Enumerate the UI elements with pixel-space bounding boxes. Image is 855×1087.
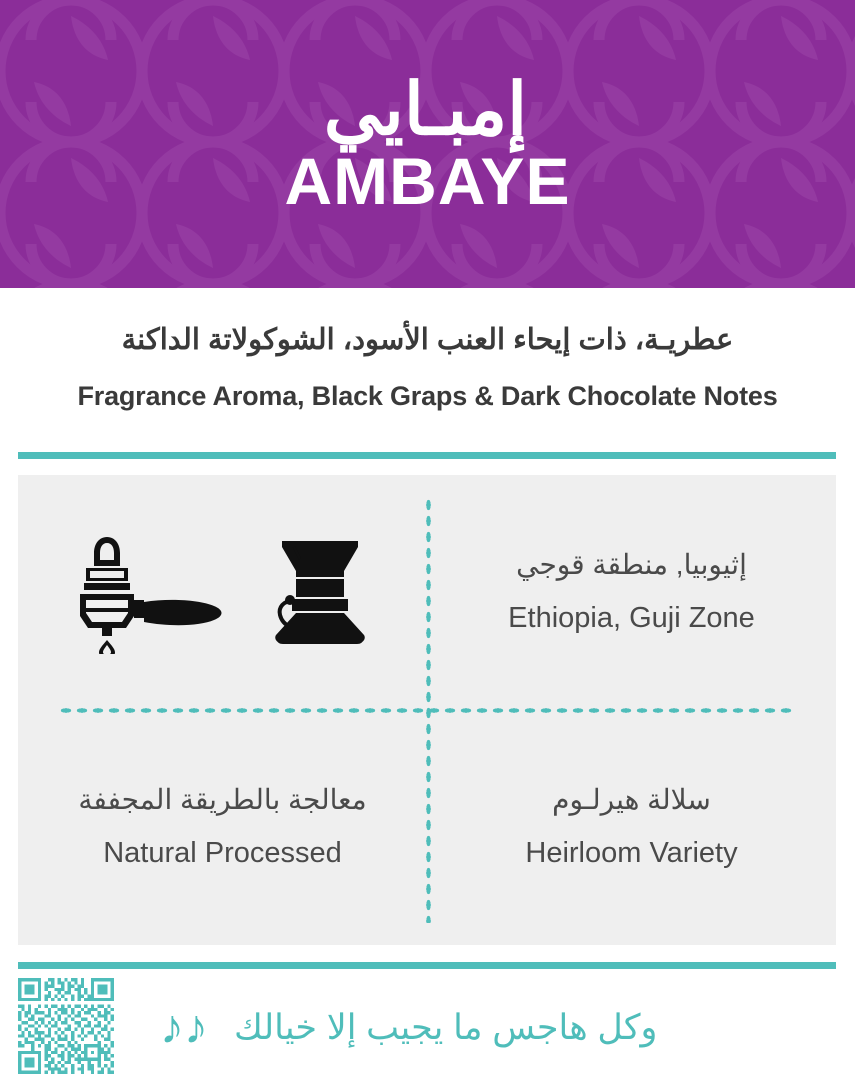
header-banner: إمبـايي AMBAYE: [0, 0, 855, 288]
panel-cell-brew-methods: [18, 475, 427, 710]
panel-cell-variety: سلالة هيرلـوم Heirloom Variety: [427, 710, 836, 945]
origin-english: Ethiopia, Guji Zone: [508, 600, 755, 638]
footer-tagline-arabic: وكل هاجس ما يجيب إلا خيالك: [234, 1005, 657, 1051]
variety-english: Heirloom Variety: [525, 835, 737, 873]
brew-method-icon-row: [78, 532, 368, 654]
espresso-portafilter-tamper-icon: [78, 532, 224, 654]
qr-code[interactable]: [18, 978, 114, 1074]
process-arabic: معالجة بالطريقة المجففة: [78, 782, 366, 818]
music-note-icon: ♪♪: [160, 1004, 208, 1052]
header-text-block: إمبـايي AMBAYE: [0, 0, 855, 288]
tasting-notes-block: عطريـة، ذات إيحاء العنب الأسود، الشوكولا…: [0, 288, 855, 448]
brand-name-english: AMBAYE: [285, 148, 571, 214]
brand-name-arabic: إمبـايي: [324, 74, 531, 146]
divider-rule-top: [18, 452, 836, 459]
coffee-bag-label: إمبـايي AMBAYE عطريـة، ذات إيحاء العنب ا…: [0, 0, 855, 1087]
chemex-pourover-icon: [272, 537, 368, 649]
origin-arabic: إثيوبيا, منطقة قوجي: [516, 547, 747, 583]
variety-arabic: سلالة هيرلـوم: [552, 782, 711, 818]
footer: ♪♪ وكل هاجس ما يجيب إلا خيالك: [0, 969, 855, 1087]
divider-rule-bottom: [18, 962, 836, 969]
tasting-notes-arabic: عطريـة، ذات إيحاء العنب الأسود، الشوكولا…: [122, 323, 734, 358]
panel-divider-horizontal: [58, 707, 796, 714]
panel-cell-origin: إثيوبيا, منطقة قوجي Ethiopia, Guji Zone: [427, 475, 836, 710]
panel-cell-process: معالجة بالطريقة المجففة Natural Processe…: [18, 710, 427, 945]
process-english: Natural Processed: [103, 835, 342, 873]
footer-tagline-block: ♪♪ وكل هاجس ما يجيب إلا خيالك: [150, 969, 850, 1087]
info-panel: إثيوبيا, منطقة قوجي Ethiopia, Guji Zone …: [18, 475, 836, 945]
tasting-notes-english: Fragrance Aroma, Black Graps & Dark Choc…: [77, 380, 777, 412]
